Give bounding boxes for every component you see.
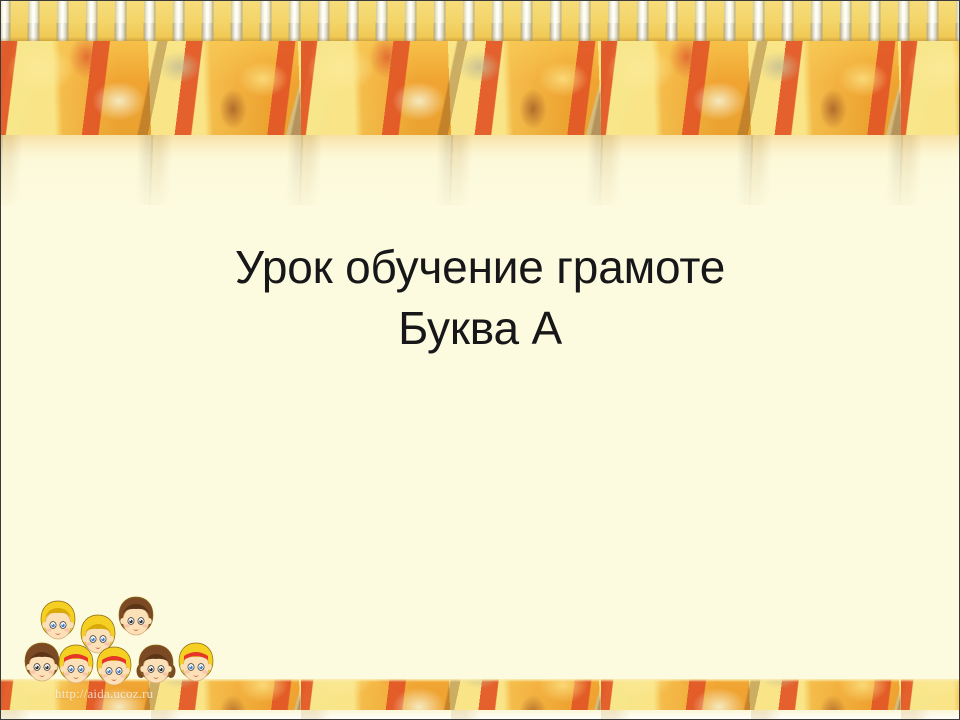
child-face-blonde-girl-headband-3 [173,639,219,689]
presentation-slide: Урок обучение грамоте Буква А http://aid… [0,0,960,720]
spiral-shadow [1,37,959,41]
children-faces-illustration [17,593,247,691]
slide-title: Урок обучение грамоте Буква А [1,237,959,359]
autumn-leaves-band-top [1,39,959,135]
spiral-binding [1,1,959,41]
leaf-blobs-overlay [1,39,959,135]
title-line-2: Буква А [1,298,959,359]
leaves-reflection-bottom [1,710,959,720]
child-face-blonde-girl-headband-2 [91,643,137,693]
reflection-fade-overlay [1,135,959,221]
title-line-1: Урок обучение грамоте [1,237,959,298]
child-face-brunette-girl-pigtails [133,641,179,691]
